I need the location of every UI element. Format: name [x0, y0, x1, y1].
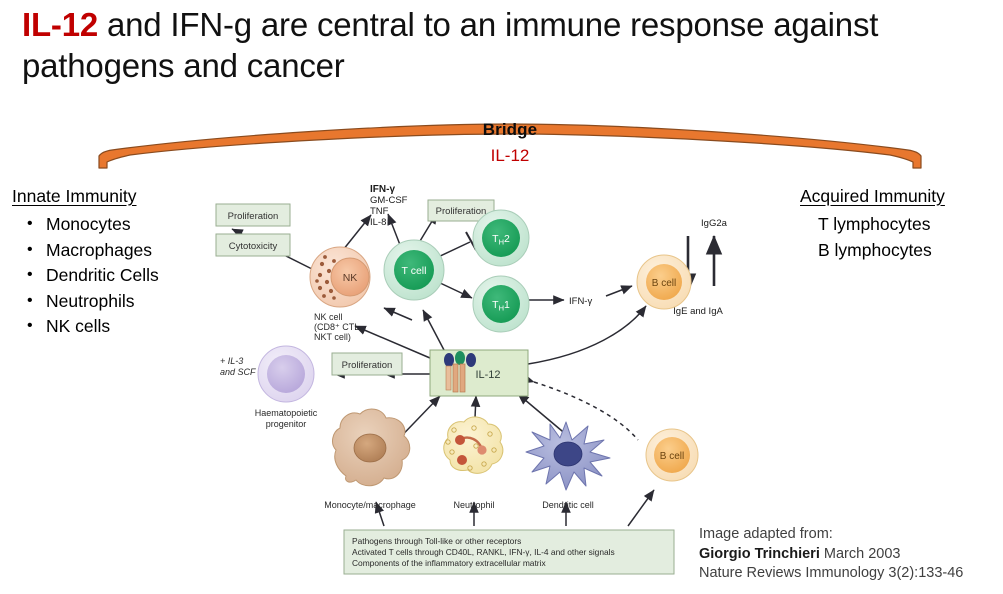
il3-scf-line1: + IL-3 [220, 356, 243, 366]
igg2a-label: IgG2a [701, 218, 728, 229]
arrow-il12-to-tcell [423, 310, 444, 350]
haematopoietic-progenitor-graphic [258, 346, 314, 402]
nk-cell-core-label: NK [343, 272, 358, 284]
arrow-il12-to-bcell [528, 306, 646, 364]
nk-cell-graphic: NK [310, 247, 370, 307]
arrow-tcell-to-th1 [438, 282, 472, 298]
list-item: Monocytes [46, 212, 159, 238]
ige-iga-label: IgE and IgA [673, 306, 723, 317]
progenitor-label-line2: progenitor [266, 419, 307, 429]
citation-author: Giorgio Trinchieri [699, 546, 820, 562]
il12-box-label: IL-12 [475, 369, 500, 381]
list-item: B lymphocytes [818, 238, 932, 264]
list-item: Neutrophils [46, 289, 159, 315]
th1-cell-graphic: TH1 [473, 276, 529, 332]
cytotoxicity-box-label: Cytotoxicity [229, 241, 278, 252]
bridge-sublabel: IL-12 [95, 146, 925, 166]
arrow-into-nkcell-label [384, 308, 412, 320]
gm-csf-label: GM-CSF [370, 195, 408, 206]
citation-line1: Image adapted from: [699, 525, 963, 545]
b-cell-top-graphic: B cell [637, 255, 691, 309]
signals-box-line2: Activated T cells through CD40L, RANKL, … [352, 547, 615, 557]
arrow-ifng-to-bcell [606, 286, 632, 296]
arrow-nk-to-cytokines [343, 215, 371, 250]
neutrophil-graphic [444, 417, 503, 473]
il3-scf-line2: and SCF [220, 367, 256, 377]
citation: Image adapted from: Giorgio Trinchieri M… [699, 525, 963, 584]
b-cell-bottom-label: B cell [660, 451, 684, 462]
citation-line2: Giorgio Trinchieri March 2003 [699, 545, 963, 565]
proliferation-progenitor-box-label: Proliferation [342, 360, 393, 371]
arrow-signals-to-bcell [628, 490, 654, 526]
title-accent: IL-12 [22, 6, 98, 43]
il12-box-graphic: IL-12 [430, 350, 528, 396]
citation-line3: Nature Reviews Immunology 3(2):133-46 [699, 564, 963, 584]
progenitor-label-line1: Haematopoietic [255, 408, 318, 418]
nk-label-line2: (CD8⁺ CTL, [314, 322, 362, 332]
monocyte-label: Monocyte/macrophage [324, 500, 416, 510]
list-item: Macrophages [46, 238, 159, 264]
monocyte-macrophage-graphic [333, 409, 410, 486]
title-rest: and IFN-g are central to an immune respo… [22, 6, 878, 84]
ifn-gamma-label: IFN-γ [370, 184, 395, 195]
nk-label-line3: NKT cell) [314, 332, 351, 342]
t-cell-core-label: T cell [402, 265, 427, 277]
signals-box-graphic: Pathogens through Toll-like or other rec… [344, 530, 674, 574]
nk-label-line1: NK cell [314, 312, 343, 322]
th2-cell-graphic: TH2 [473, 210, 529, 266]
bridge-label: Bridge [95, 120, 925, 140]
t-cell-graphic: T cell [384, 240, 444, 300]
bridge-banner: Bridge IL-12 [95, 112, 925, 174]
th2-label-num: 2 [504, 233, 510, 245]
neutrophil-label: Neutrophil [453, 500, 494, 510]
proliferation-nk-box-label: Proliferation [228, 211, 279, 222]
arrow-tcell-to-th2 [436, 242, 470, 258]
list-item: Dendritic Cells [46, 263, 159, 289]
signals-box-line1: Pathogens through Toll-like or other rec… [352, 536, 521, 546]
acquired-immunity-heading: Acquired Immunity [800, 186, 945, 207]
innate-immunity-heading: Innate Immunity [12, 186, 137, 207]
list-item: T lymphocytes [818, 212, 932, 238]
b-cell-top-label: B cell [652, 278, 676, 289]
arrow-dendritic-to-il12 [518, 394, 568, 436]
signals-box-line3: Components of the inflammatory extracell… [352, 558, 546, 568]
list-item: NK cells [46, 314, 159, 340]
th1-label-num: 1 [504, 299, 510, 311]
dendritic-label: Dendritic cell [542, 500, 594, 510]
tnf-label: TNF [370, 206, 389, 217]
il8-label: IL-8 [370, 217, 386, 228]
acquired-immunity-list: T lymphocytes B lymphocytes [818, 212, 932, 263]
innate-immunity-list: Monocytes Macrophages Dendritic Cells Ne… [22, 212, 159, 340]
page-title: IL-12 and IFN-g are central to an immune… [22, 4, 987, 86]
citation-date: March 2003 [820, 546, 901, 562]
proliferation-t-box-label: Proliferation [436, 206, 487, 217]
ifn-gamma-arrow-label: IFN-γ [569, 296, 592, 307]
b-cell-bottom-graphic: B cell [646, 429, 698, 481]
dendritic-cell-graphic [526, 422, 610, 490]
